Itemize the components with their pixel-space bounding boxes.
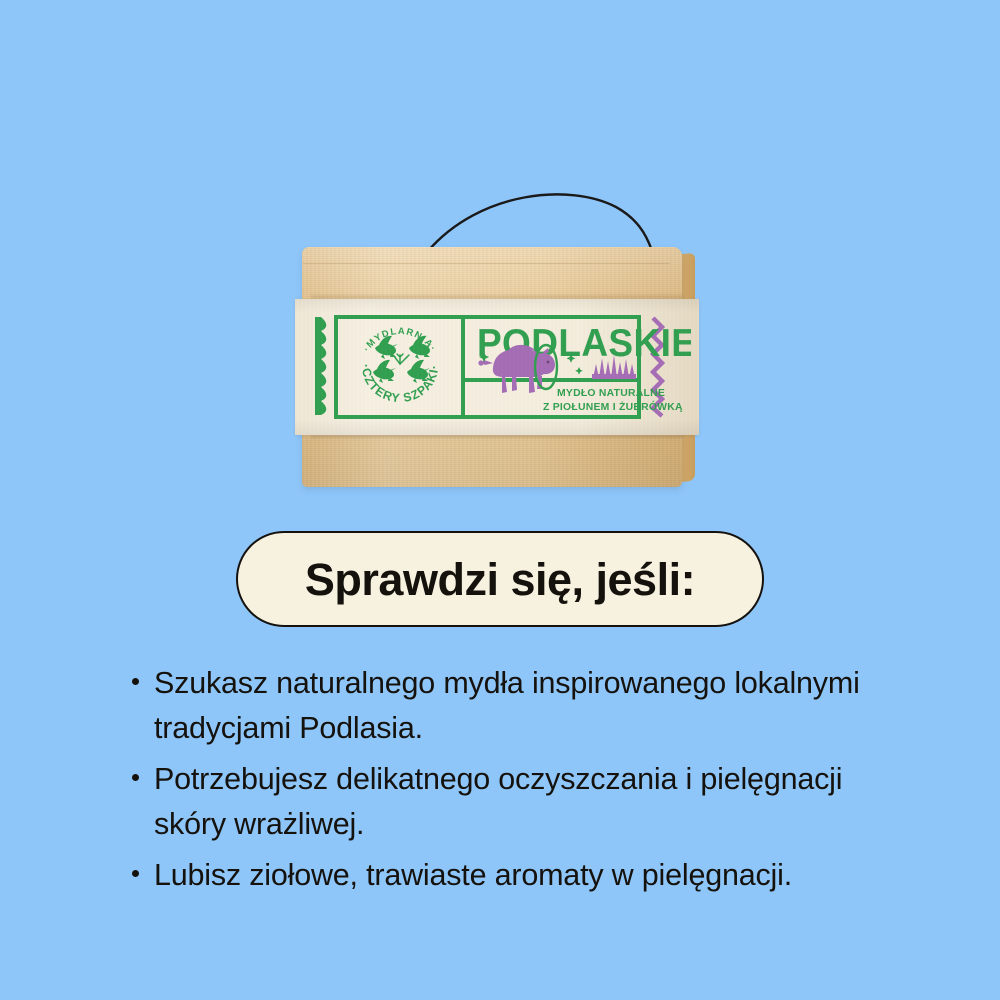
- sparkle-icon-group: [479, 352, 583, 375]
- list-item: Potrzebujesz delikatnego oczyszczania i …: [132, 757, 872, 847]
- bison-icon: [478, 345, 555, 393]
- hang-string-icon: [420, 185, 680, 255]
- product-photo: ·MYDLARNIA· ·CZTERY SZPAKI·: [0, 185, 1000, 515]
- lasso-ellipse-icon: [535, 345, 557, 389]
- bullet-dot-icon: [132, 661, 154, 685]
- brand-mark-logo: ·MYDLARNIA· ·CZTERY SZPAKI·: [359, 325, 441, 405]
- bullet-dot-icon: [132, 757, 154, 781]
- list-item: Lubisz ziołowe, trawiaste aromaty w piel…: [132, 853, 872, 898]
- ornament-left-fern-icon: [315, 317, 326, 415]
- starling-bird-icon-2: [409, 336, 432, 359]
- starling-bird-icon-3: [373, 360, 396, 383]
- benefits-list: Szukasz naturalnego mydła inspirowanego …: [132, 661, 872, 904]
- section-heading-pill: Sprawdzi się, jeśli:: [236, 531, 764, 627]
- brand-mark-bottom-text: ·CZTERY SZPAKI·: [359, 364, 441, 405]
- ornament-right-zigzag-icon: [653, 318, 662, 416]
- list-item-label: Szukasz naturalnego mydła inspirowanego …: [154, 661, 872, 751]
- product-title-text: PODLASKIE: [477, 321, 691, 365]
- list-item-label: Potrzebujesz delikatnego oczyszczania i …: [154, 757, 872, 847]
- label-frame: [336, 317, 639, 417]
- bison-grass-icon: [592, 355, 636, 379]
- list-item-label: Lubisz ziołowe, trawiaste aromaty w piel…: [154, 853, 872, 898]
- bullet-dot-icon: [132, 853, 154, 877]
- paper-band: ·MYDLARNIA· ·CZTERY SZPAKI·: [295, 299, 699, 435]
- product-subtitle-line-2: Z PIOŁUNEM I ŻUBRÓWKĄ: [543, 400, 683, 413]
- box-lid-crease: [303, 263, 670, 264]
- product-subtitle-line-1: MYDŁO NATURALNE: [557, 388, 665, 399]
- brand-mark-top-text: ·MYDLARNIA·: [360, 325, 439, 353]
- label-artwork: ·MYDLARNIA· ·CZTERY SZPAKI·: [303, 306, 691, 428]
- starling-bird-icon-1: [375, 336, 398, 359]
- bison-eye-icon: [547, 361, 550, 364]
- product-card-page: ·MYDLARNIA· ·CZTERY SZPAKI·: [0, 0, 1000, 1000]
- page-title: Sprawdzi się, jeśli:: [305, 557, 695, 602]
- list-item: Szukasz naturalnego mydła inspirowanego …: [132, 661, 872, 751]
- starling-bird-icon-4: [407, 360, 430, 383]
- soap-box: ·MYDLARNIA· ·CZTERY SZPAKI·: [302, 247, 694, 492]
- branch-icon: [392, 354, 409, 364]
